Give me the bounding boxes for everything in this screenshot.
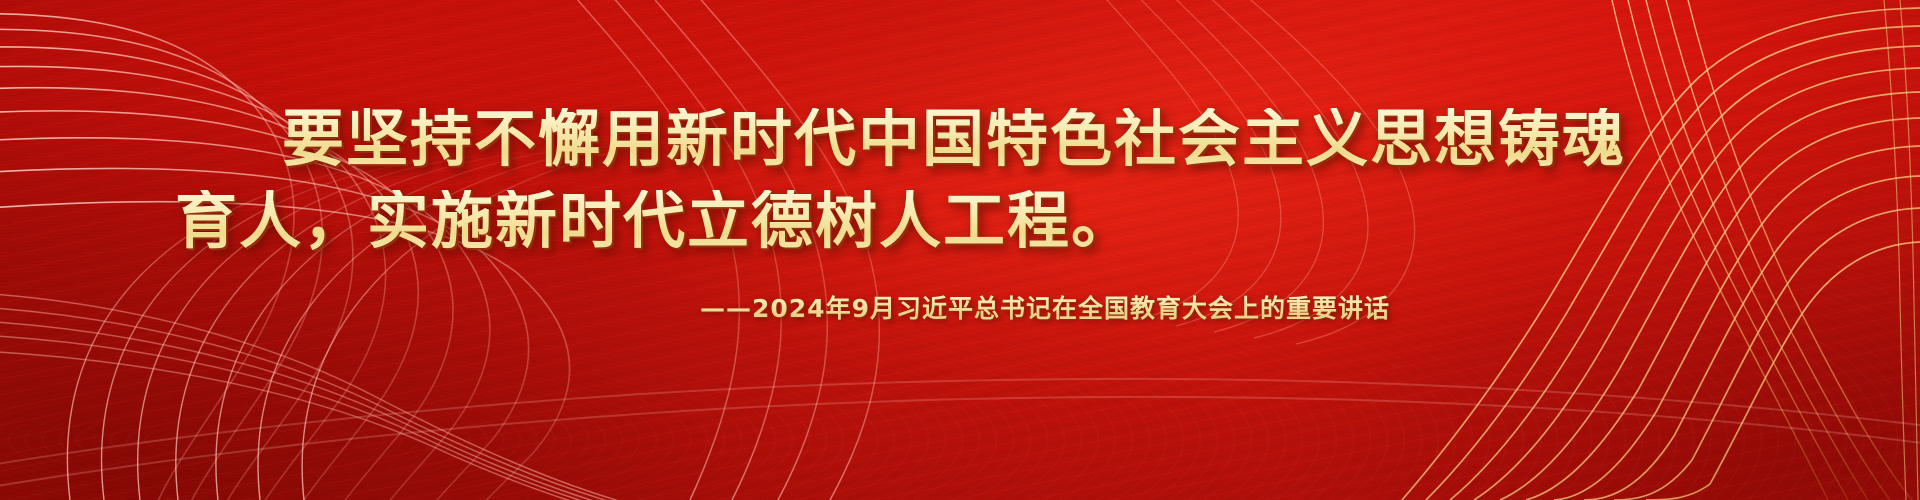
quote-line-2: 育人，实施新时代立德树人工程。 [175,190,1135,252]
quote-attribution: ——2024年9月习近平总书记在全国教育大会上的重要讲话 [700,289,1390,325]
quote-line-1: 要坚持不懈用新时代中国特色社会主义思想铸魂 [282,108,1626,170]
banner-root: 要坚持不懈用新时代中国特色社会主义思想铸魂 育人，实施新时代立德树人工程。 ——… [0,0,1920,500]
quote-block: 要坚持不懈用新时代中国特色社会主义思想铸魂 育人，实施新时代立德树人工程。 ——… [0,0,1920,500]
